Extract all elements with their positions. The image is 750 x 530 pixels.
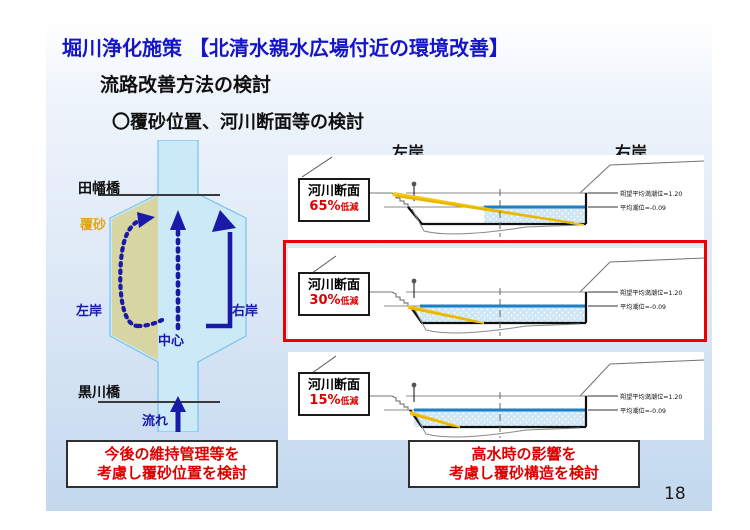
level-high-text-1: 朔望平均満潮位=1.20 (620, 190, 682, 198)
level-mean-text-3: 平均潮位=-0.09 (620, 407, 666, 415)
plan-label-right-bank: 右岸 (232, 300, 258, 319)
subtitle-2: 〇覆砂位置、河川断面等の検討 (112, 108, 364, 134)
plan-label-tabata-bridge: 田幡橋 (78, 178, 120, 198)
level-high-text-3: 朔望平均満潮位=1.20 (620, 393, 682, 401)
plan-view-diagram: 田幡橋 覆砂 左岸 右岸 中心 黒川橋 流れ (80, 140, 270, 432)
level-mean-text-1: 平均潮位=-0.09 (620, 204, 666, 212)
tag-leader-line-1 (302, 157, 332, 177)
caption-box-right: 高水時の影響を 考慮し覆砂構造を検討 (408, 440, 640, 488)
section-tag-2-title: 河川断面 (308, 278, 360, 293)
section-tag-3-reduction: 15%低減 (309, 393, 358, 410)
section-tag-2: 河川断面 30%低減 (298, 272, 370, 316)
right-bank-profile-1 (580, 161, 704, 193)
plan-label-kurokawa-bridge: 黒川橋 (78, 382, 120, 402)
caption-box-left: 今後の維持管理等を 考慮し覆砂位置を検討 (66, 440, 278, 488)
page-number: 18 (664, 484, 686, 504)
section-tag-1-reduction: 65%低減 (309, 199, 358, 216)
section-tag-1: 河川断面 65%低減 (298, 178, 370, 222)
caption-left-line-2: 考慮し覆砂位置を検討 (97, 464, 247, 483)
plan-label-sand-covering: 覆砂 (80, 214, 106, 233)
plan-label-flow: 流れ (142, 410, 168, 429)
section-tag-2-reduction: 30%低減 (309, 293, 358, 310)
right-bank-profile-3 (580, 360, 704, 396)
revetment-steps-3 (392, 396, 408, 410)
plan-label-center: 中心 (158, 330, 184, 349)
subtitle-1: 流路改善方法の検討 (100, 70, 271, 97)
section-tag-1-title: 河川断面 (308, 184, 360, 199)
section-tag-3: 河川断面 15%低減 (298, 372, 370, 416)
bridge-marker-knob-1 (412, 182, 417, 187)
plan-label-left-bank: 左岸 (76, 300, 102, 319)
slide-root: 堀川浄化施策 【北清水親水広場付近の環境改善】 流路改善方法の検討 〇覆砂位置、… (0, 0, 750, 530)
caption-right-line-2: 考慮し覆砂構造を検討 (449, 464, 599, 483)
section-tag-3-title: 河川断面 (308, 378, 360, 393)
page-title: 堀川浄化施策 【北清水親水広場付近の環境改善】 (62, 32, 509, 61)
bridge-marker-knob-3 (412, 383, 417, 388)
caption-left-line-1: 今後の維持管理等を (104, 445, 239, 464)
caption-right-line-1: 高水時の影響を (471, 445, 576, 464)
